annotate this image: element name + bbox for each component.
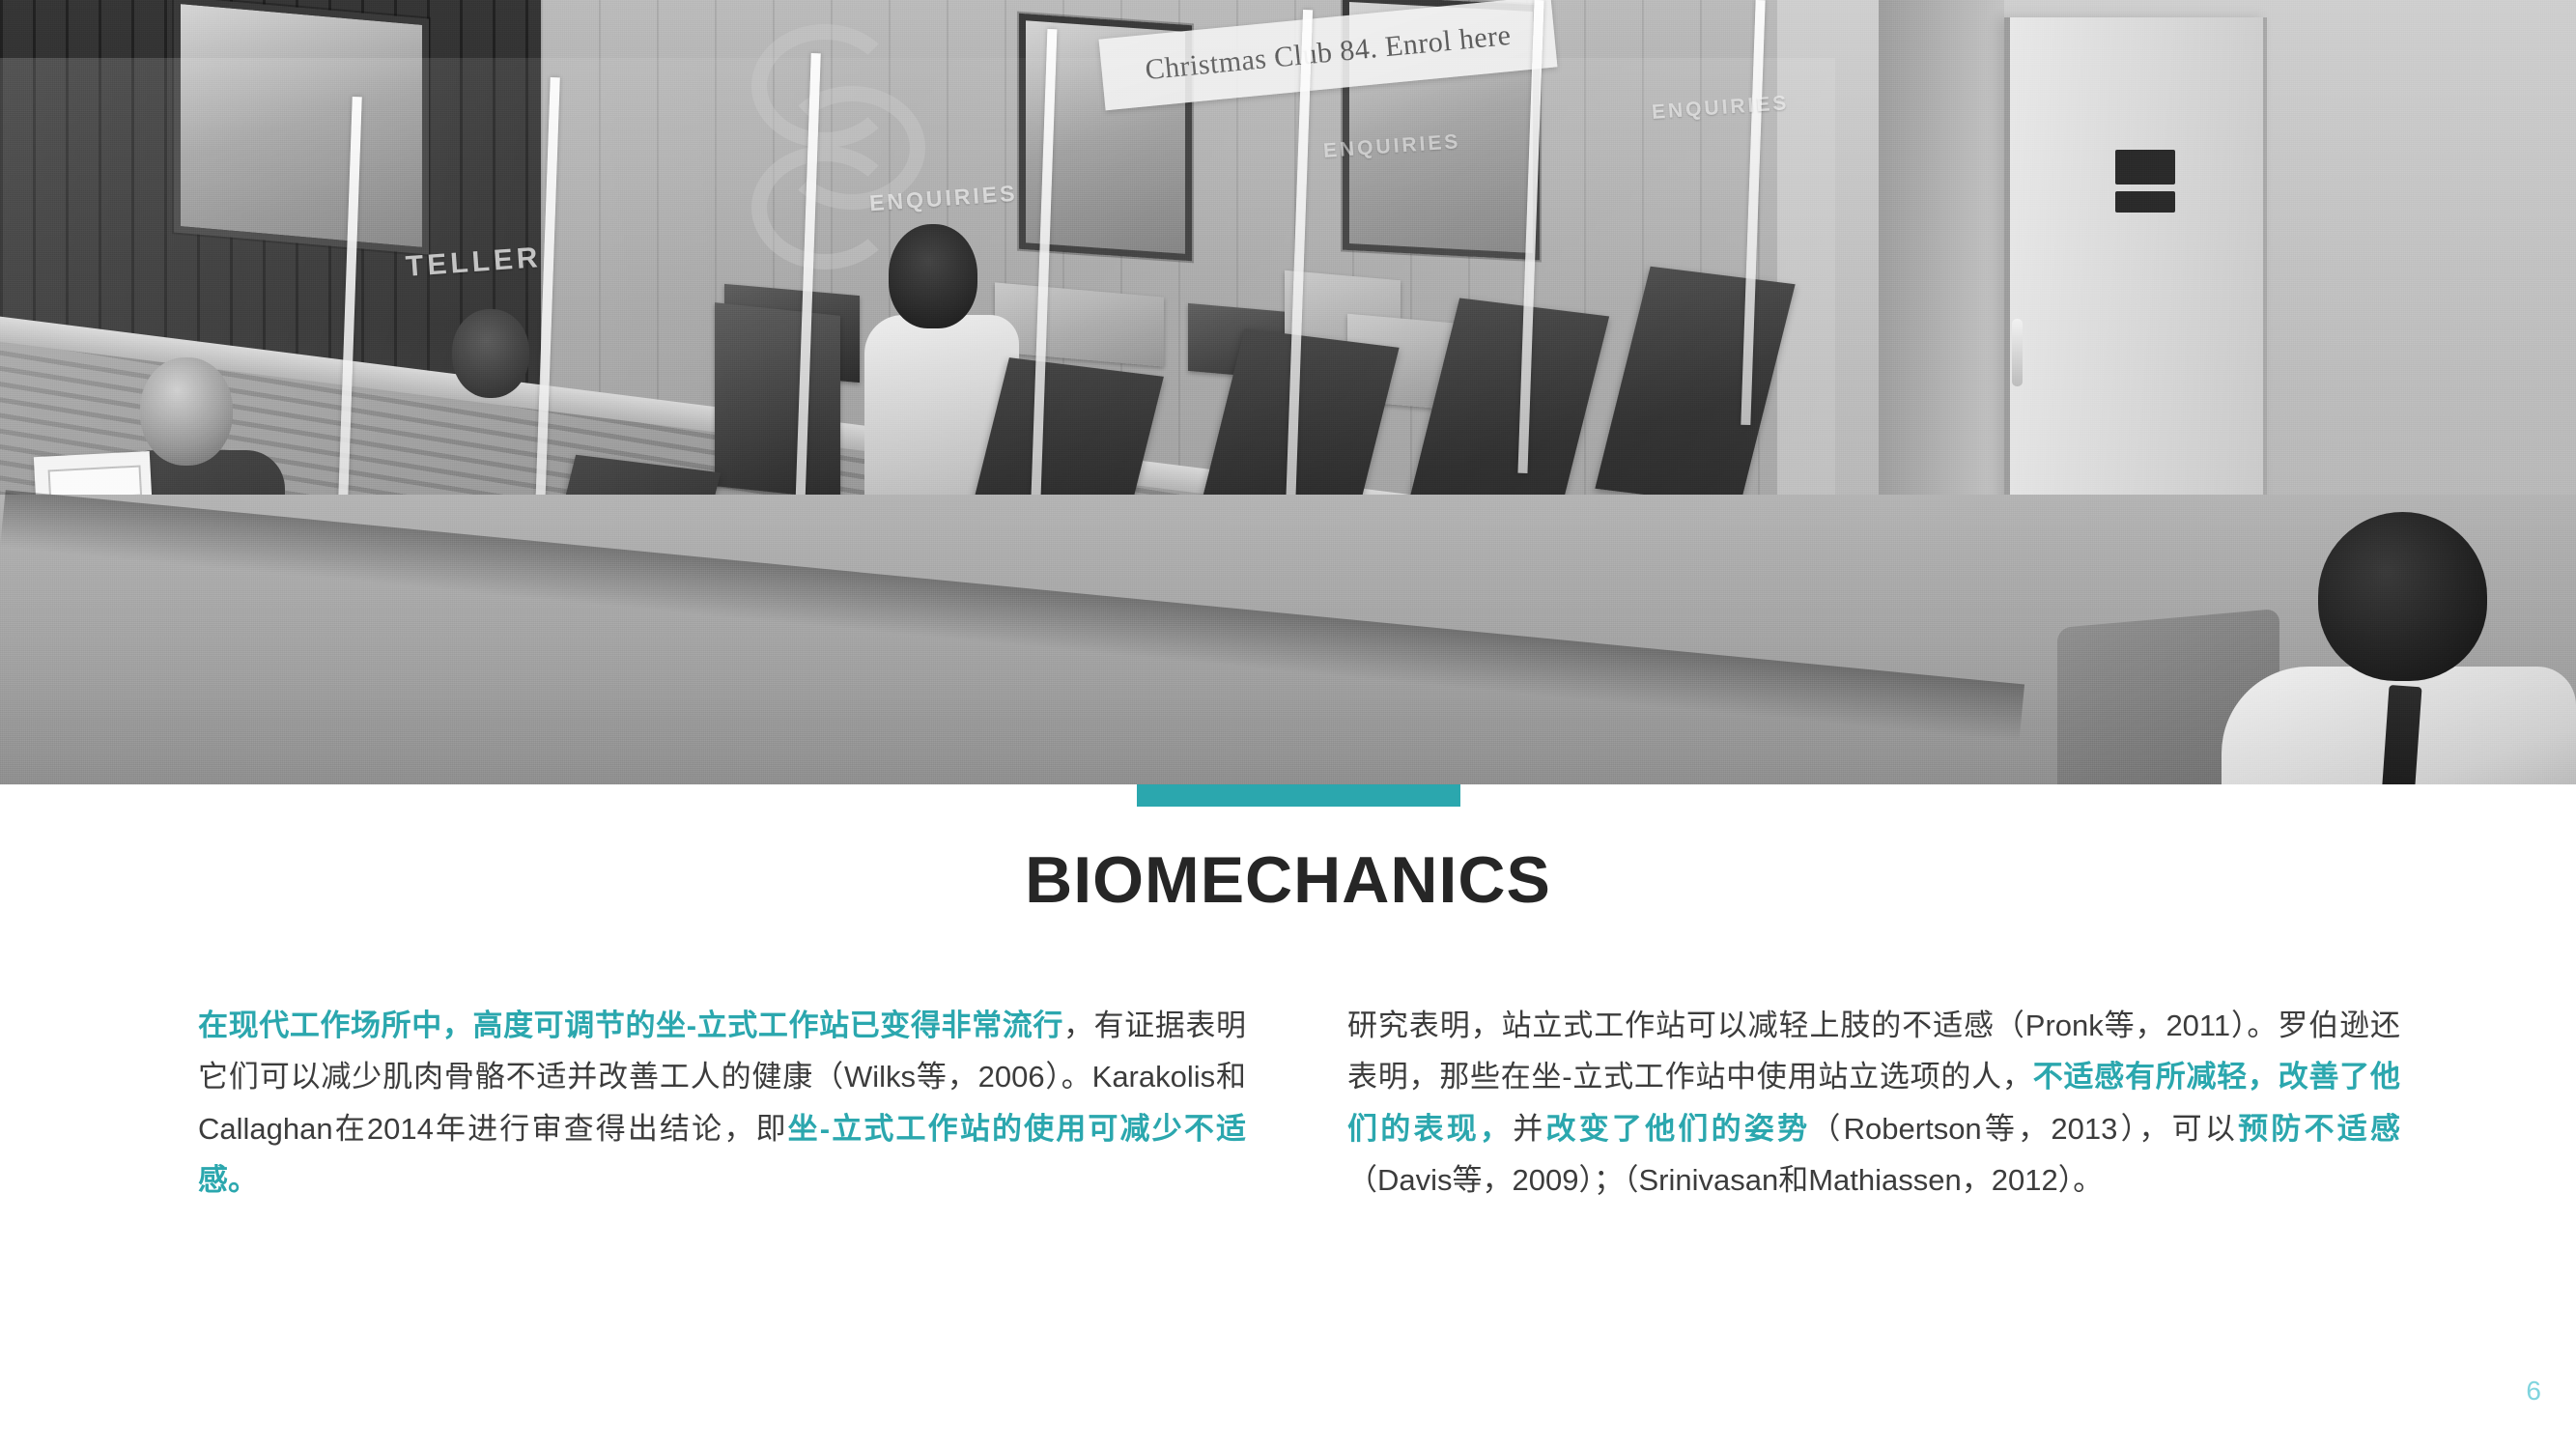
body-right-seg-5: 预防不适感 xyxy=(2238,1112,2400,1146)
body-left-column: 在现代工作场所中，高度可调节的坐-立式工作站已变得非常流行，有证据表明它们可以减… xyxy=(198,1000,1246,1206)
door-plaque xyxy=(2115,150,2175,185)
body-right-seg-4: （Robertson等，2013），可以 xyxy=(1810,1112,2238,1146)
body-columns: 在现代工作场所中，高度可调节的坐-立式工作站已变得非常流行，有证据表明它们可以减… xyxy=(0,1000,2576,1367)
door-plaque xyxy=(2115,191,2175,213)
customer-right-head xyxy=(2318,512,2487,681)
body-left-seg-0: 在现代工作场所中，高度可调节的坐-立式工作站已变得非常流行 xyxy=(198,1009,1063,1042)
title-accent-bar xyxy=(1137,784,1460,807)
body-right-column: 研究表明，站立式工作站可以减轻上肢的不适感（Pronk等，2011）。罗伯逊还表… xyxy=(1347,1000,2400,1206)
page-number: 6 xyxy=(2526,1376,2541,1406)
customer-left-head xyxy=(140,357,233,466)
body-right-seg-2: 并 xyxy=(1513,1112,1545,1146)
body-right-seg-3: 改变了他们的姿势 xyxy=(1545,1112,1810,1146)
hero-photograph: Christmas Club 84. Enrol here xyxy=(0,0,2576,784)
person-background xyxy=(452,309,529,398)
door-handle xyxy=(2012,319,2023,386)
presentation-slide: Christmas Club 84. Enrol here xyxy=(0,0,2576,1449)
wall-picture-frame xyxy=(174,0,429,255)
filing-cabinet xyxy=(715,302,840,499)
page-title: BIOMECHANICS xyxy=(0,842,2576,918)
desk-equipment xyxy=(995,282,1164,366)
teller-staff-head xyxy=(889,224,977,328)
body-right-seg-6: （Davis等，2009）；（Srinivasan和Mathiassen，201… xyxy=(1347,1163,2103,1197)
